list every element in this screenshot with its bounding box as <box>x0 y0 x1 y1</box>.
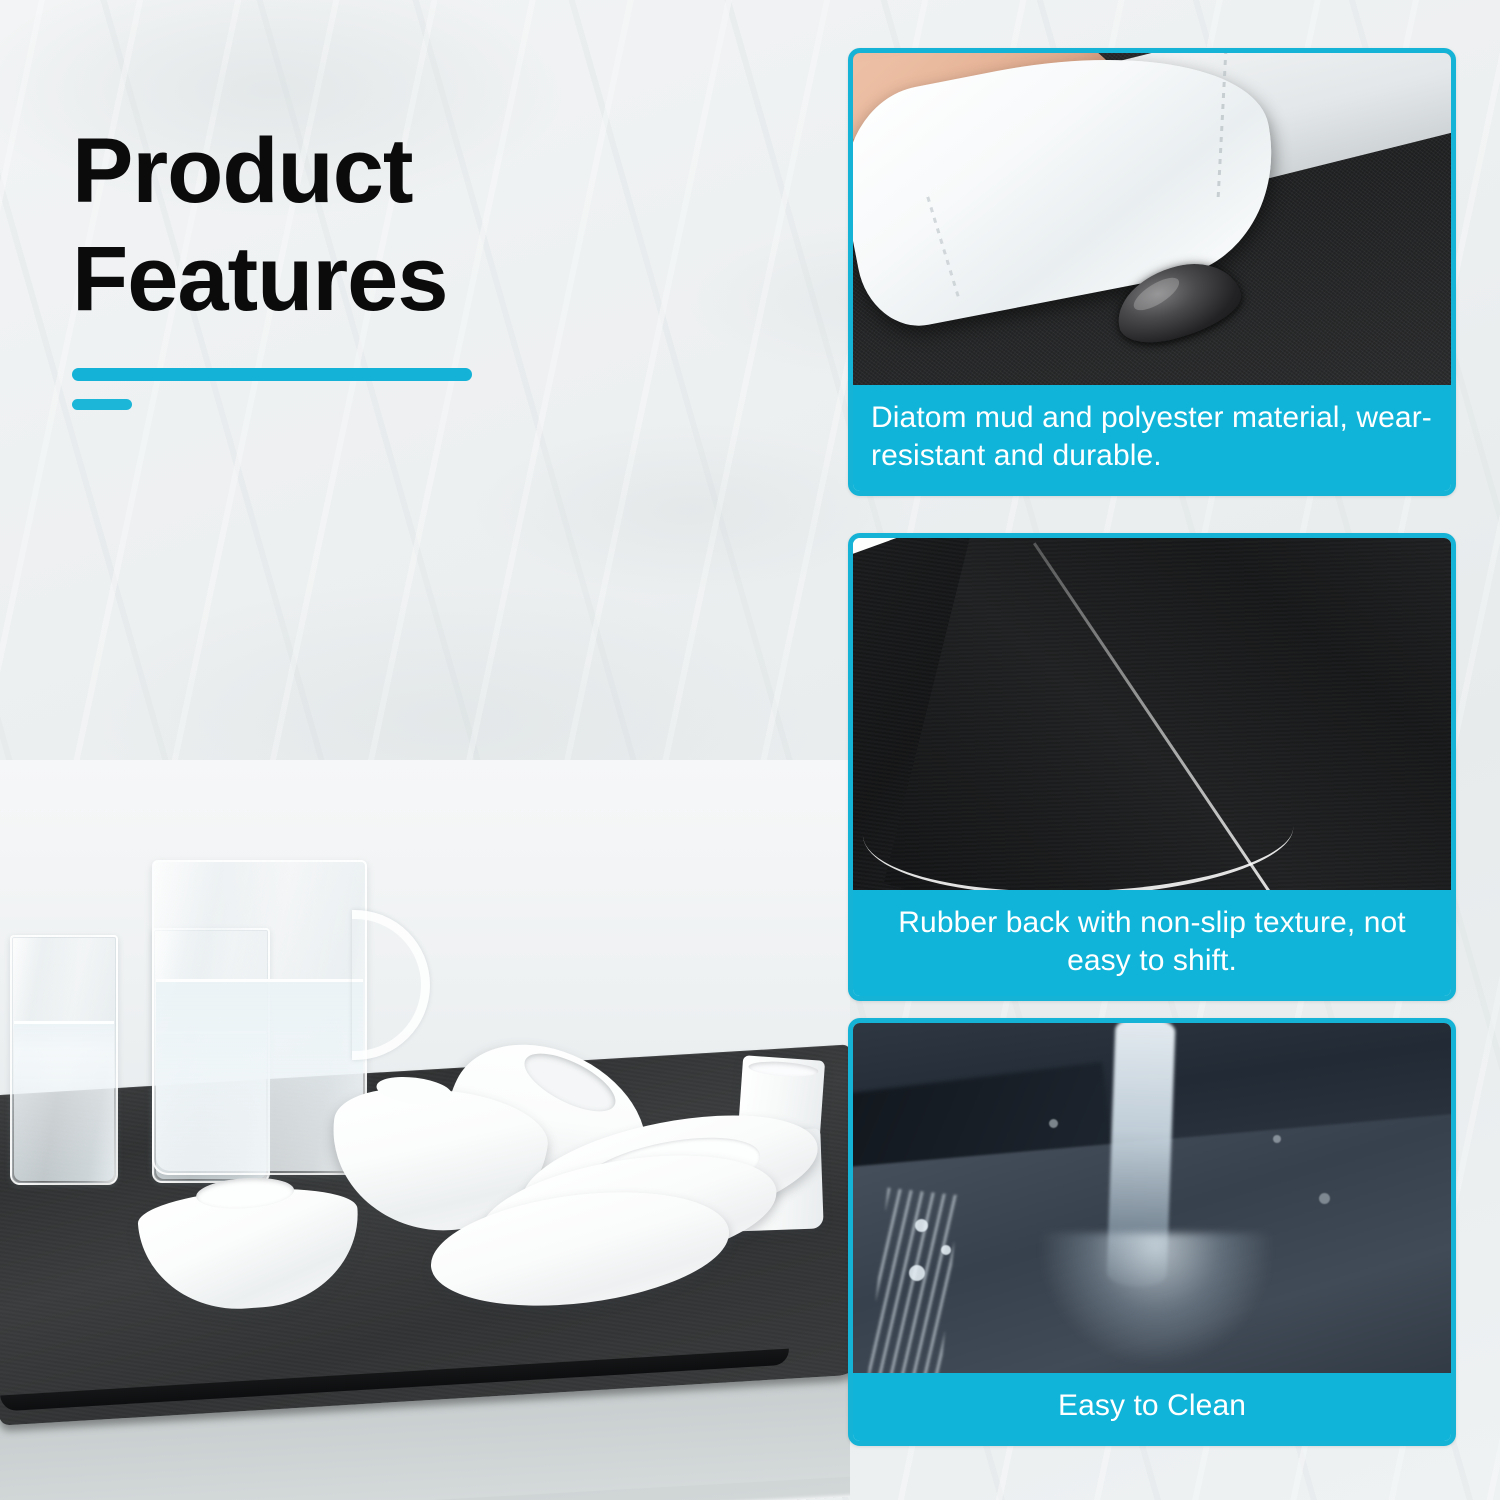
accent-rule-long <box>72 368 472 381</box>
feature-caption-material: Diatom mud and polyester material, wear-… <box>853 385 1451 491</box>
feature-card-easy-clean: Easy to Clean <box>848 1018 1456 1446</box>
pitcher-water <box>156 979 363 1171</box>
accent-rule-short <box>72 399 132 410</box>
glass-water <box>14 1021 114 1181</box>
feature-photo-material <box>853 53 1451 385</box>
feature-photo-rubber-back <box>853 538 1451 890</box>
water-droplet <box>1049 1119 1058 1128</box>
water-glass <box>10 935 118 1185</box>
water-droplet <box>1319 1193 1330 1204</box>
page-title: Product Features <box>72 118 772 333</box>
feature-caption-easy-clean: Easy to Clean <box>853 1373 1451 1441</box>
feature-card-material: Diatom mud and polyester material, wear-… <box>848 48 1456 496</box>
water-droplet <box>915 1219 928 1232</box>
page-title-line-2: Features <box>72 226 772 334</box>
tissue-seam <box>926 196 961 302</box>
water-droplet <box>1273 1135 1281 1143</box>
page-title-line-1: Product <box>72 118 772 226</box>
water-splash <box>1041 1233 1271 1363</box>
feature-photo-easy-clean <box>853 1023 1451 1373</box>
water-droplet <box>909 1265 925 1281</box>
water-droplet <box>941 1245 951 1255</box>
feature-card-rubber-back: Rubber back with non-slip texture, not e… <box>848 533 1456 1001</box>
feature-caption-rubber-back: Rubber back with non-slip texture, not e… <box>853 890 1451 996</box>
